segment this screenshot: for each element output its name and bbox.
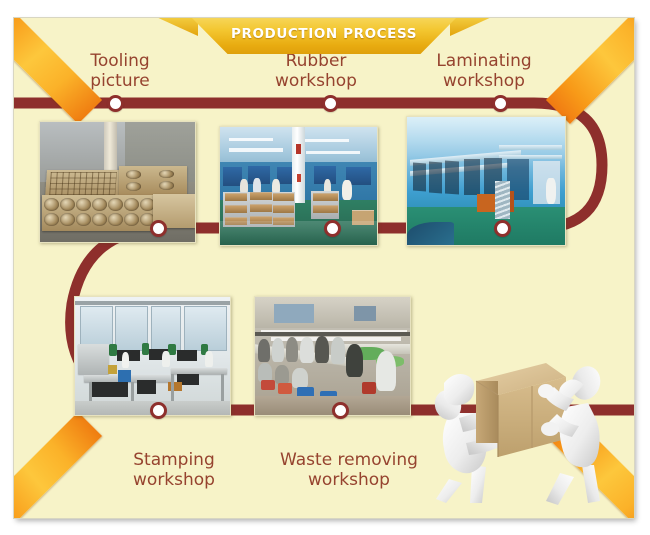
step-label-rubber: Rubber workshop bbox=[236, 51, 396, 91]
photo-tooling-scene bbox=[40, 122, 195, 242]
cardboard-box bbox=[476, 363, 566, 457]
step-label-laminating: Laminating workshop bbox=[399, 51, 569, 91]
photo-rubber-workshop[interactable] bbox=[219, 126, 378, 246]
process-node-4[interactable] bbox=[150, 220, 167, 237]
step-label-tooling: Tooling picture bbox=[50, 51, 190, 91]
photo-rubber-scene bbox=[220, 127, 377, 245]
process-node-6[interactable] bbox=[494, 220, 511, 237]
title-banner: PRODUCTION PROCESS bbox=[190, 18, 458, 54]
process-node-1[interactable] bbox=[107, 95, 124, 112]
photo-waste-removing-workshop[interactable] bbox=[254, 296, 411, 416]
process-node-2[interactable] bbox=[322, 95, 339, 112]
delivery-figures-illustration bbox=[414, 333, 629, 508]
photo-tooling[interactable] bbox=[39, 121, 196, 243]
photo-laminating-scene bbox=[407, 117, 565, 245]
photo-laminating-workshop[interactable] bbox=[406, 116, 566, 246]
corner-ribbon-bottom-left bbox=[14, 412, 102, 518]
step-label-stamping: Stamping workshop bbox=[104, 450, 244, 490]
production-process-panel: PRODUCTION PROCESS Tooling picture Rubbe… bbox=[14, 18, 634, 518]
process-node-8[interactable] bbox=[332, 402, 349, 419]
process-node-7[interactable] bbox=[150, 402, 167, 419]
screenshot-root: PRODUCTION PROCESS Tooling picture Rubbe… bbox=[0, 0, 650, 535]
photo-stamping-workshop[interactable] bbox=[74, 296, 231, 416]
process-node-5[interactable] bbox=[324, 220, 341, 237]
banner-title: PRODUCTION PROCESS bbox=[190, 18, 458, 54]
photo-stamping-scene bbox=[75, 297, 230, 415]
process-node-3[interactable] bbox=[492, 95, 509, 112]
photo-waste-scene bbox=[255, 297, 410, 415]
